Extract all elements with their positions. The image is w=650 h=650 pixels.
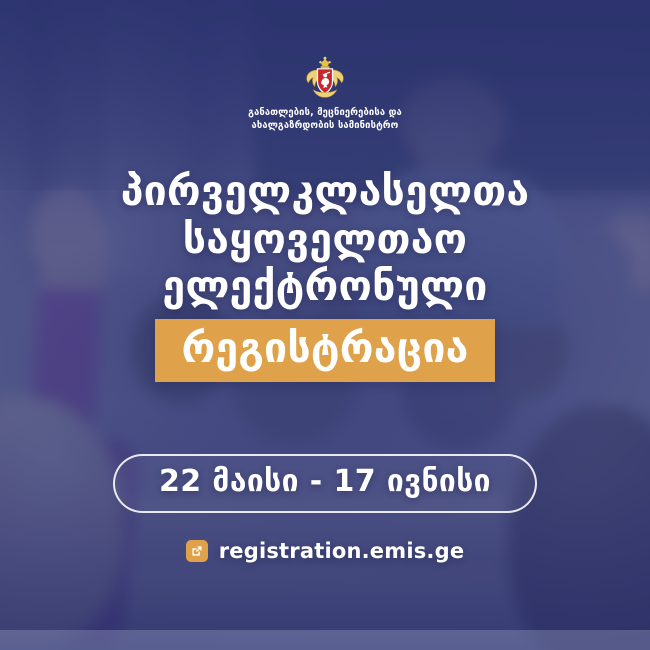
headline-line-1: პირველკლასელთა [121,168,530,216]
headline: პირველკლასელთა საყოველთაო ელექტრონული [121,168,530,311]
highlight-wrapper: რეგისტრაცია [155,319,494,382]
registration-poster: განათლების, მეცნიერებისა და ახალგაზრდობი… [0,0,650,650]
registration-highlight-badge: რეგისტრაცია [155,319,494,382]
registration-url-text[interactable]: registration.emis.ge [219,539,465,563]
date-range-pill: 22 მაისი - 17 ივნისი [113,454,537,513]
external-link-icon [186,540,208,562]
ministry-name: განათლების, მეცნიერებისა და ახალგაზრდობი… [248,107,402,132]
registration-link[interactable]: registration.emis.ge [186,539,465,563]
headline-line-2: საყოველთაო [121,216,530,264]
poster-content: განათლების, მეცნიერებისა და ახალგაზრდობი… [0,0,650,650]
georgia-coat-of-arms-icon [301,56,349,100]
ministry-name-line1: განათლების, მეცნიერებისა და [248,107,402,120]
ministry-name-line2: ახალგაზრდობის სამინისტრო [248,120,402,133]
ministry-lockup: განათლების, მეცნიერებისა და ახალგაზრდობი… [248,56,402,132]
headline-line-3: ელექტრონული [121,263,530,311]
